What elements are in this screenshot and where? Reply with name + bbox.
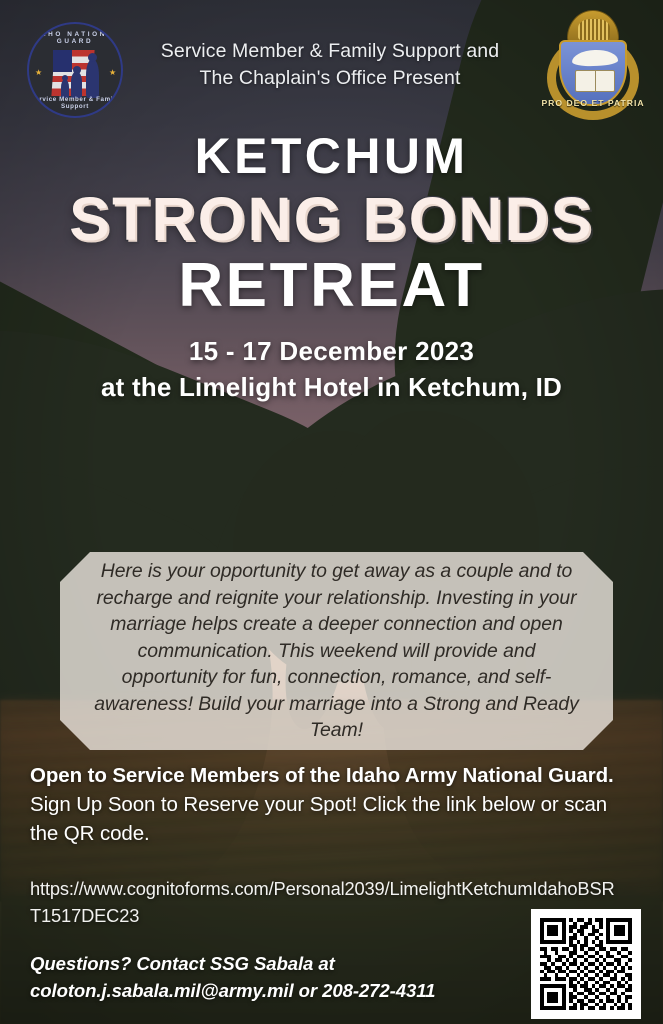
seal-arc-bottom-text: Service Member & Family Support <box>29 96 121 110</box>
description-box: Here is your opportunity to get away as … <box>60 552 613 750</box>
qr-code-panel[interactable] <box>531 909 641 1019</box>
description-text: Here is your opportunity to get away as … <box>60 558 613 744</box>
seal-flag-canton <box>53 50 72 72</box>
idaho-national-guard-seal-icon: IDAHO NATIONAL GUARD ★ ★ Service Member … <box>27 22 123 118</box>
seal-figure-spouse <box>71 72 82 98</box>
title-line-ketchum: KETCHUM <box>0 128 663 184</box>
presenter-line-2: The Chaplain's Office Present <box>130 65 530 92</box>
poster-header: IDAHO NATIONAL GUARD ★ ★ Service Member … <box>0 0 663 120</box>
contact-line-2: coloton.j.sabala.mil@army.mil or 208-272… <box>30 977 530 1004</box>
signup-block: Open to Service Members of the Idaho Arm… <box>30 762 637 848</box>
flyer-poster: IDAHO NATIONAL GUARD ★ ★ Service Member … <box>0 0 663 1024</box>
crest-dove-icon <box>572 49 619 67</box>
contact-block: Questions? Contact SSG Sabala at coloton… <box>30 950 530 1004</box>
title-line-retreat: RETREAT <box>0 250 663 322</box>
seal-star-right: ★ <box>109 70 115 76</box>
qr-code[interactable] <box>540 918 632 1010</box>
event-details: 15 - 17 December 2023 at the Limelight H… <box>0 333 663 405</box>
signup-instruction-text: Sign Up Soon to Reserve your Spot! Click… <box>30 790 637 848</box>
seal-figure-soldier <box>86 60 99 98</box>
presenter-text: Service Member & Family Support and The … <box>130 38 530 92</box>
event-venue: at the Limelight Hotel in Ketchum, ID <box>0 369 663 405</box>
event-dates: 15 - 17 December 2023 <box>0 333 663 369</box>
title-block: KETCHUM STRONG BONDS RETREAT <box>0 128 663 322</box>
presenter-line-1: Service Member & Family Support and <box>130 38 530 65</box>
contact-line-1: Questions? Contact SSG Sabala at <box>30 950 530 977</box>
seal-arc-top-text: IDAHO NATIONAL GUARD <box>29 31 121 45</box>
seal-star-left: ★ <box>35 70 41 76</box>
crest-motto-text: PRO DEO ET PATRIA <box>541 86 645 120</box>
eligibility-text: Open to Service Members of the Idaho Arm… <box>30 762 637 790</box>
title-line-strong-bonds: STRONG BONDS <box>0 186 663 252</box>
chaplain-corps-crest-icon: PRO DEO ET PATRIA <box>541 10 645 122</box>
